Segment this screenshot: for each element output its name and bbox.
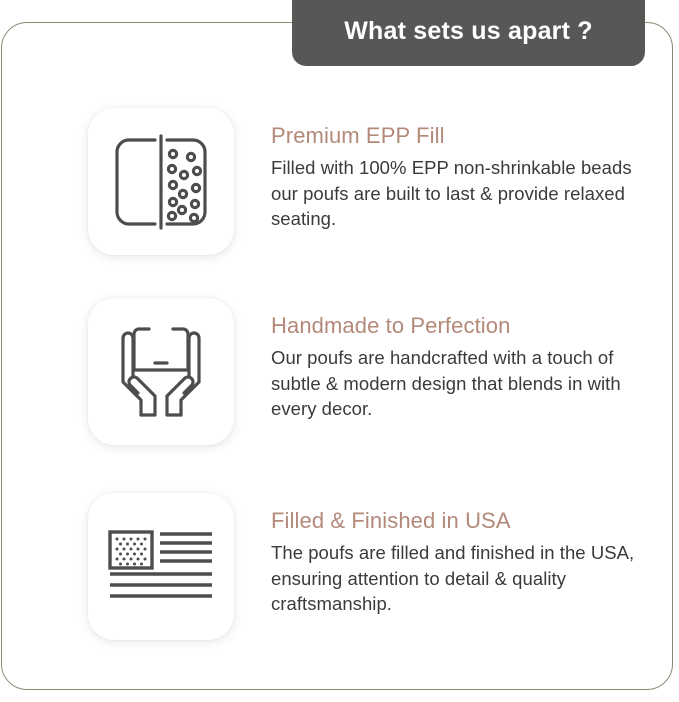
banner-title: What sets us apart ? [344,19,593,48]
feature-icon-card [88,298,234,445]
feature-item-premium-epp-fill: Premium EPP Fill Filled with 100% EPP no… [88,108,648,255]
feature-description: Filled with 100% EPP non-shrinkable bead… [271,155,646,232]
feature-text-block: Premium EPP Fill Filled with 100% EPP no… [271,108,646,232]
feature-title: Filled & Finished in USA [271,507,646,535]
feature-description: Our poufs are handcrafted with a touch o… [271,345,646,422]
feature-icon-card [88,108,234,255]
feature-title: Premium EPP Fill [271,122,646,150]
feature-description: The poufs are filled and finished in the… [271,540,646,617]
feature-item-handmade-to-perfection: Handmade to Perfection Our poufs are han… [88,298,648,445]
usa-flag-icon [108,530,214,604]
feature-text-block: Handmade to Perfection Our poufs are han… [271,298,646,422]
feature-icon-card [88,493,234,640]
feature-title: Handmade to Perfection [271,312,646,340]
header-banner: What sets us apart ? [292,0,645,66]
hands-holding-pouf-icon [111,324,211,420]
feature-list: Premium EPP Fill Filled with 100% EPP no… [0,0,679,702]
pouf-cutaway-beads-icon [111,134,211,230]
feature-text-block: Filled & Finished in USA The poufs are f… [271,493,646,617]
feature-item-filled-finished-in-usa: Filled & Finished in USA The poufs are f… [88,493,648,640]
